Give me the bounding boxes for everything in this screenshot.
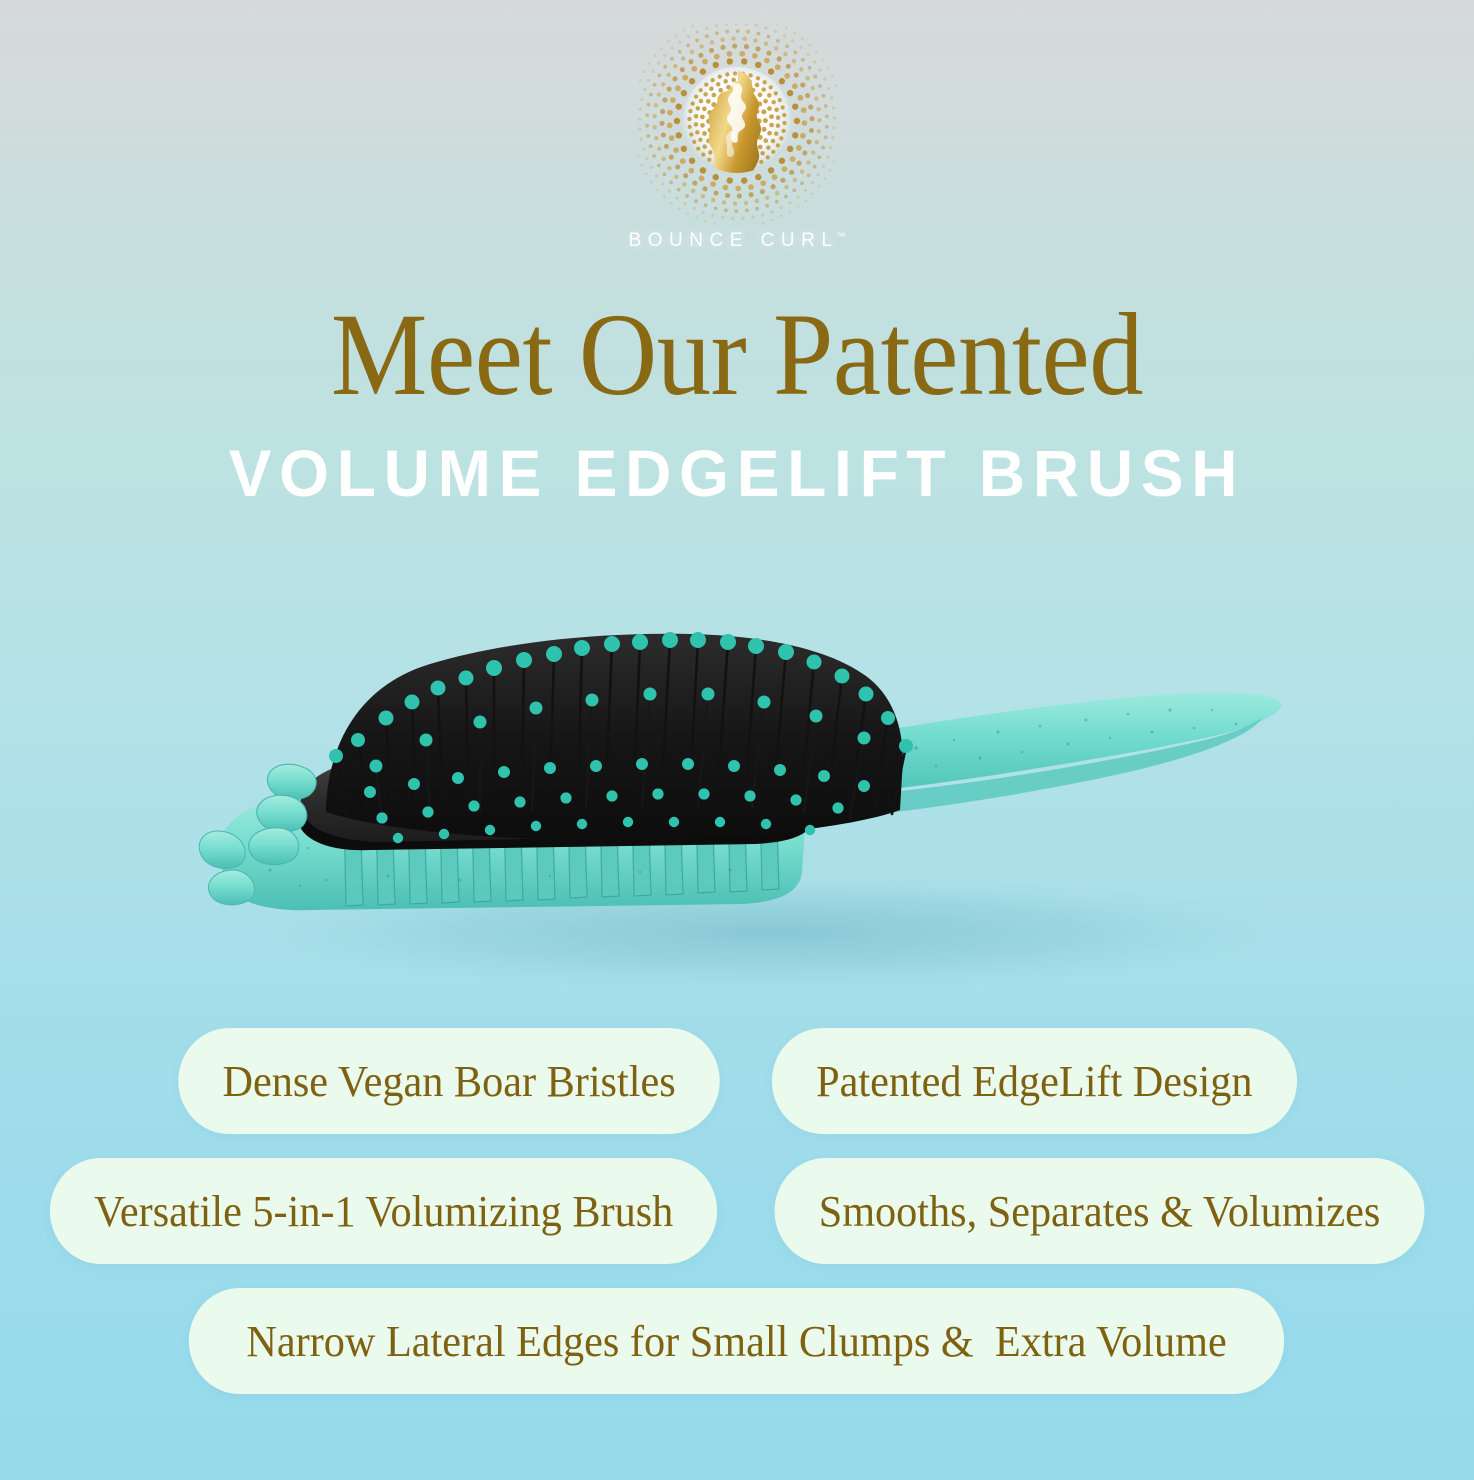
feature-pill-smooths-separates-volumizes[interactable]: Smooths, Separates & Volumizes bbox=[775, 1158, 1425, 1264]
brand-name: BOUNCE CURL™ bbox=[629, 230, 846, 252]
bounce-curl-halftone-portrait-logo bbox=[637, 24, 837, 224]
brush-bristles bbox=[326, 632, 913, 843]
trademark-icon: ™ bbox=[836, 231, 845, 241]
feature-row-1: Dense Vegan Boar Bristles Patented EdgeL… bbox=[0, 1028, 1474, 1134]
product-image-brush bbox=[130, 580, 1350, 1010]
headline-primary: Meet Our Patented bbox=[59, 296, 1415, 414]
brand-logo-block: BOUNCE CURL™ bbox=[0, 24, 1474, 252]
feature-pill-patented-edgelift-design[interactable]: Patented EdgeLift Design bbox=[772, 1028, 1297, 1134]
marketing-poster: BOUNCE CURL™ Meet Our Patented VOLUME ED… bbox=[0, 0, 1474, 1480]
feature-pill-narrow-lateral-edges[interactable]: Narrow Lateral Edges for Small Clumps & … bbox=[189, 1288, 1285, 1394]
brand-name-text: BOUNCE CURL bbox=[629, 230, 839, 251]
feature-row-3: Narrow Lateral Edges for Small Clumps & … bbox=[0, 1288, 1474, 1394]
feature-pill-versatile-5-in-1-volumizing-brush[interactable]: Versatile 5-in-1 Volumizing Brush bbox=[50, 1158, 718, 1264]
feature-pill-dense-vegan-boar-bristles[interactable]: Dense Vegan Boar Bristles bbox=[178, 1028, 720, 1134]
headline-secondary: VOLUME EDGELIFT BRUSH bbox=[22, 440, 1452, 506]
feature-list: Dense Vegan Boar Bristles Patented EdgeL… bbox=[0, 1028, 1474, 1394]
feature-row-2: Versatile 5-in-1 Volumizing Brush Smooth… bbox=[0, 1158, 1474, 1264]
